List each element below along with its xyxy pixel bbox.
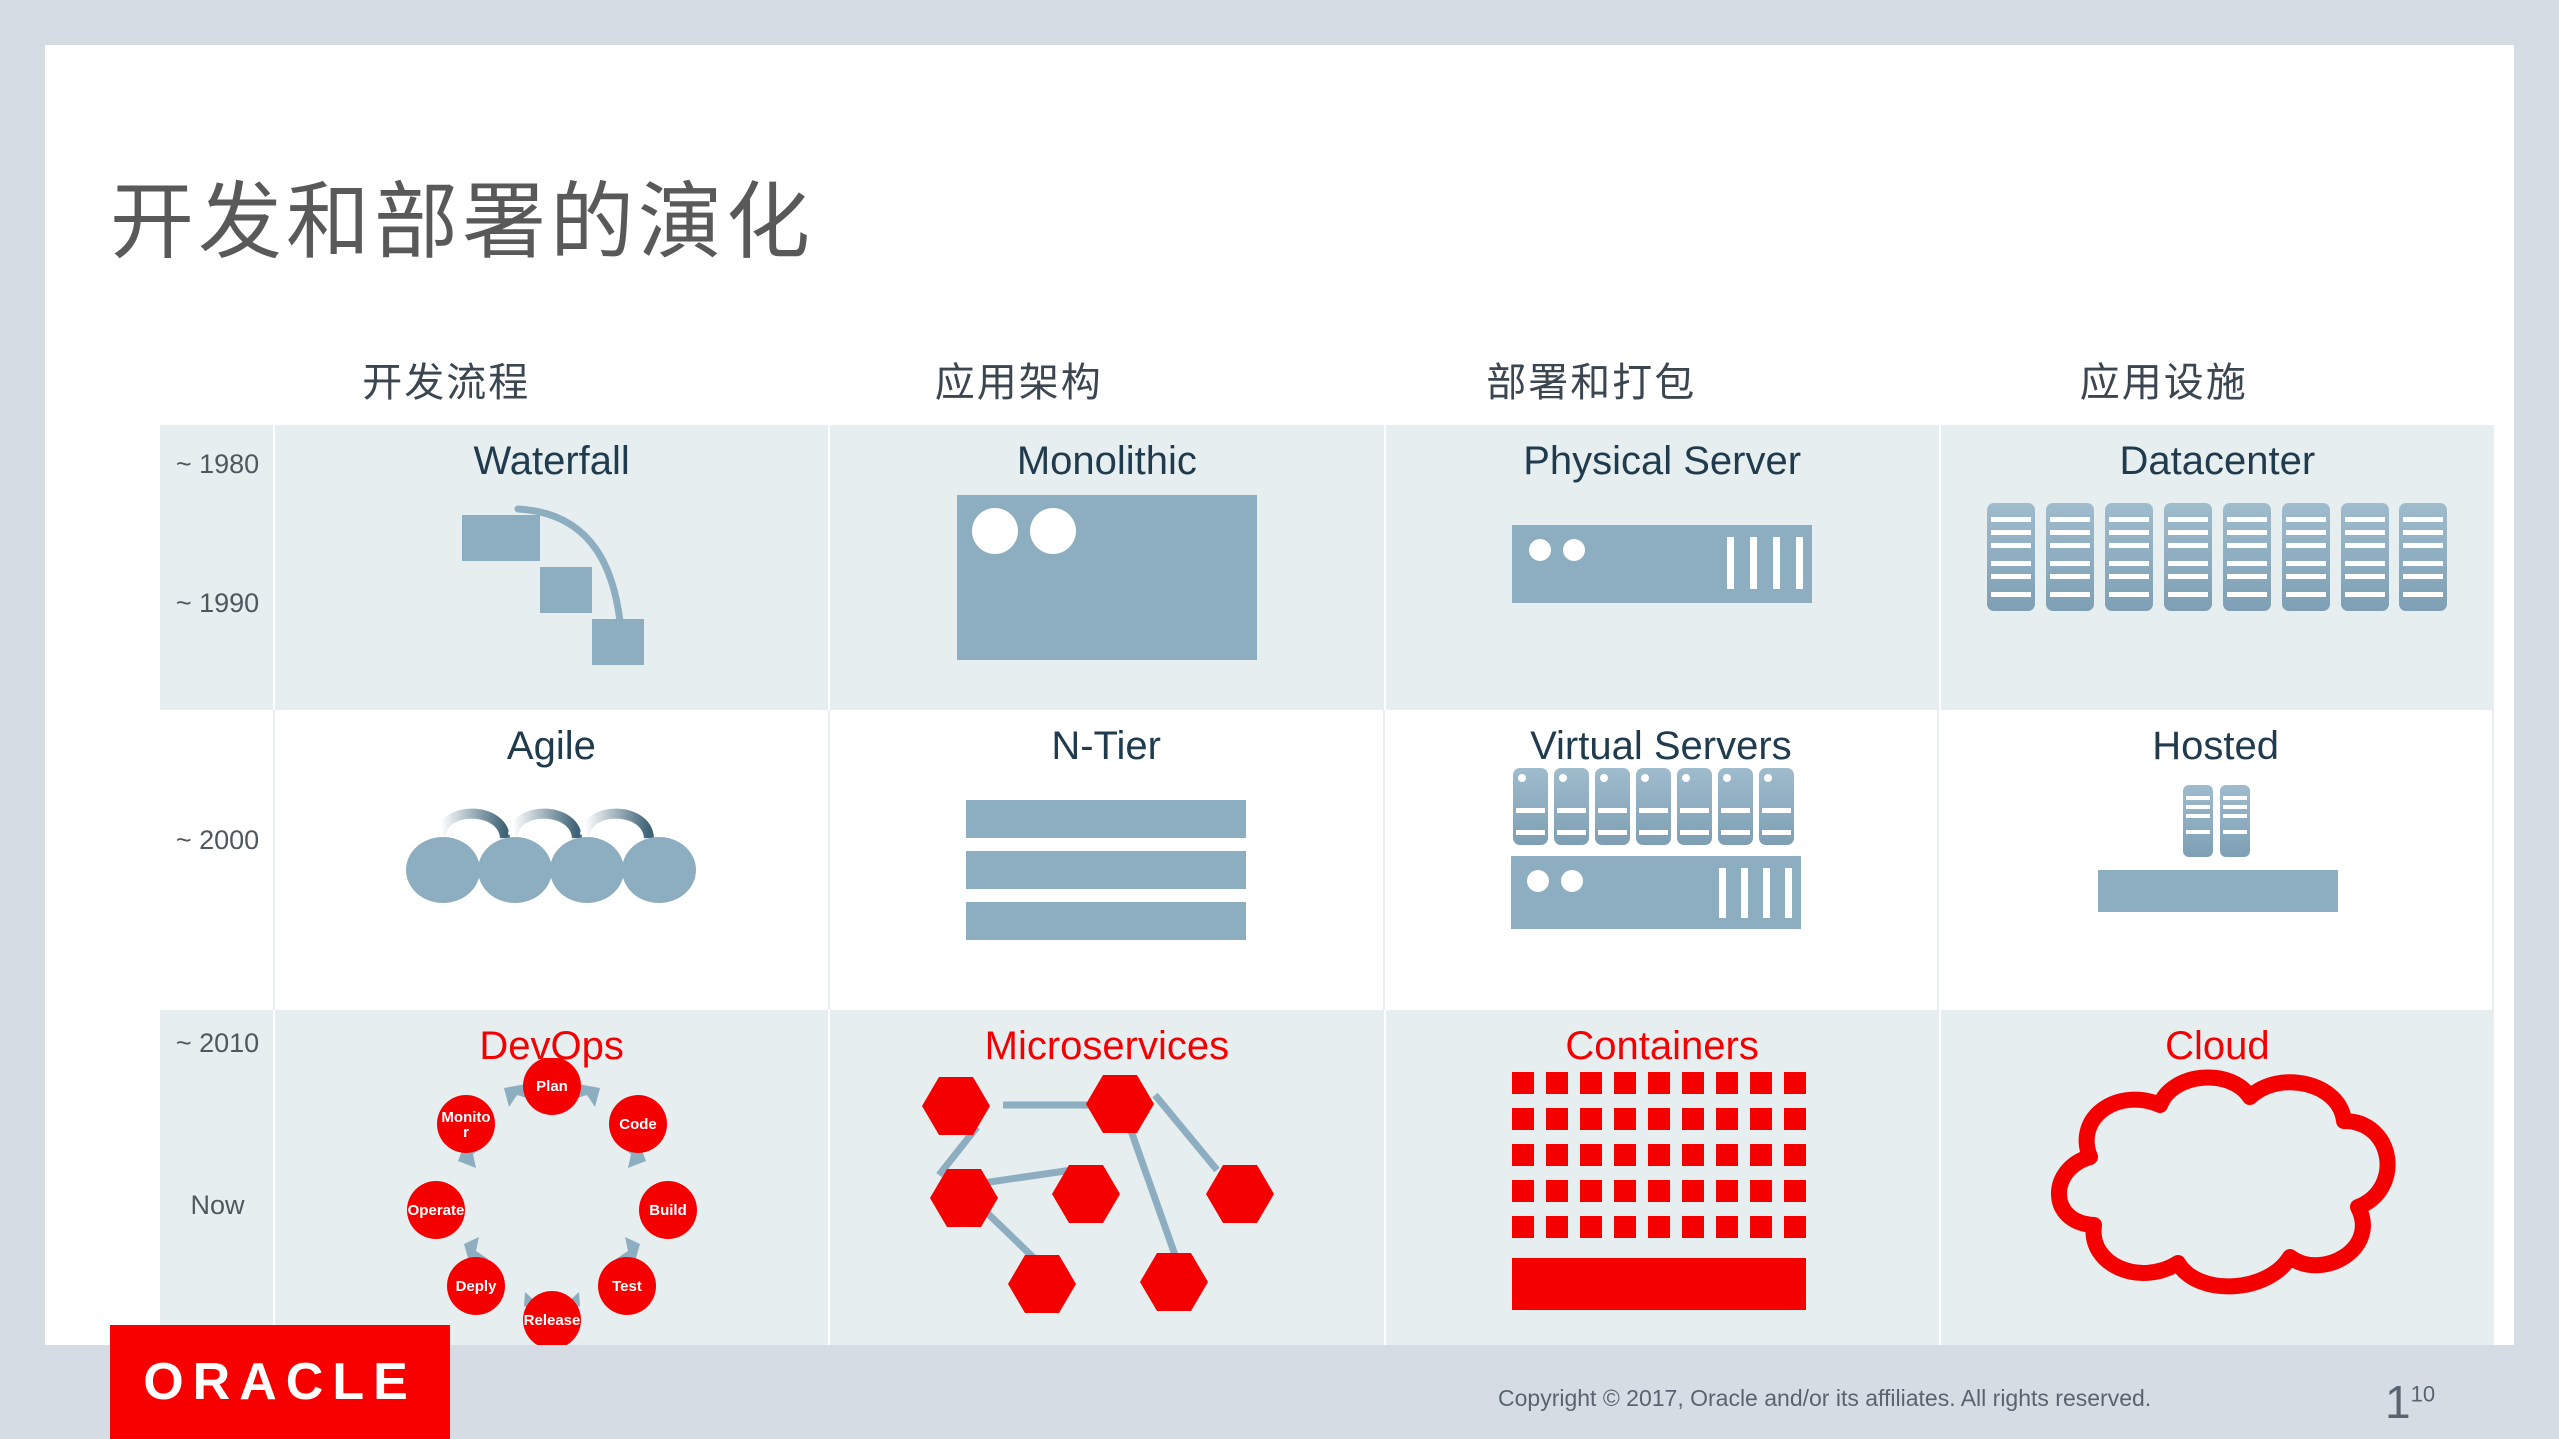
cell-virtual-servers: Virtual Servers	[1385, 710, 1940, 1010]
svg-text:r: r	[463, 1124, 469, 1141]
page-number-superscript: 10	[2411, 1382, 2435, 1407]
cell-label-physical-server: Physical Server	[1386, 439, 1939, 484]
table-row-era-2010s: ~ 2010 Now DevOps	[160, 1010, 2494, 1370]
column-header-deploy-package: 部署和打包	[1305, 350, 1878, 410]
cell-label-virtual-servers: Virtual Servers	[1385, 724, 1938, 769]
svg-text:Release: Release	[523, 1312, 580, 1329]
cell-hosted: Hosted	[1939, 710, 2494, 1010]
svg-text:Operate: Operate	[407, 1202, 464, 1219]
cell-label-monolithic: Monolithic	[830, 439, 1383, 484]
datacenter-racks-icon	[1941, 503, 2494, 710]
cell-n-tier: N-Tier	[830, 710, 1385, 1010]
n-tier-layers-icon	[830, 800, 1383, 1010]
page-number: 110	[2385, 1375, 2435, 1429]
svg-text:Build: Build	[649, 1202, 687, 1219]
waterfall-staircase-icon	[275, 495, 828, 710]
cell-label-waterfall: Waterfall	[275, 439, 828, 484]
cell-waterfall: Waterfall	[275, 425, 830, 710]
cell-cloud: Cloud	[1941, 1010, 2494, 1370]
cell-label-hosted: Hosted	[1939, 724, 2492, 769]
devops-cycle-icon: Plan Code Build Test Release Deply Opera…	[275, 1058, 828, 1370]
cell-physical-server: Physical Server	[1386, 425, 1941, 710]
era-label-1990: ~ 1990	[160, 588, 275, 619]
oracle-logo: ORACLE	[110, 1325, 450, 1439]
column-header-app-architecture: 应用架构	[733, 350, 1306, 410]
cell-label-n-tier: N-Tier	[830, 724, 1383, 769]
cell-agile: Agile	[275, 710, 830, 1010]
cell-monolithic: Monolithic	[830, 425, 1385, 710]
table-row-era-1980s: ~ 1980 ~ 1990 Waterfall Monolithic	[160, 425, 2494, 710]
hosted-racks-icon	[1939, 775, 2492, 1010]
physical-server-icon	[1386, 525, 1939, 710]
era-label-1980: ~ 1980	[160, 449, 275, 480]
page-number-value: 1	[2385, 1376, 2411, 1428]
virtual-servers-icon	[1385, 768, 1938, 1010]
era-label-2010: ~ 2010	[160, 1028, 275, 1059]
monolithic-block-icon	[830, 495, 1383, 710]
containers-grid-icon	[1386, 1072, 1939, 1370]
agile-circles-icon	[275, 800, 828, 1010]
era-column-2000s: ~ 2000	[160, 710, 275, 1010]
microservices-hex-icon	[830, 1065, 1383, 1370]
cell-label-containers: Containers	[1386, 1024, 1939, 1069]
column-header-row: 开发流程 应用架构 部署和打包 应用设施	[160, 350, 2450, 410]
cell-label-agile: Agile	[275, 724, 828, 769]
cell-label-cloud: Cloud	[1941, 1024, 2494, 1069]
oracle-wordmark: ORACLE	[143, 1352, 417, 1412]
svg-text:Deply: Deply	[455, 1278, 497, 1295]
table-row-era-2000s: ~ 2000 Agile	[160, 710, 2494, 1010]
svg-text:Plan: Plan	[536, 1078, 568, 1095]
page-title: 开发和部署的演化	[110, 155, 814, 276]
cell-containers: Containers	[1386, 1010, 1941, 1370]
column-header-dev-process: 开发流程	[160, 350, 733, 410]
era-label-2000: ~ 2000	[160, 825, 275, 856]
column-header-infrastructure: 应用设施	[1878, 350, 2451, 410]
cell-microservices: Microservices	[830, 1010, 1385, 1370]
cell-label-microservices: Microservices	[830, 1024, 1383, 1069]
slide-canvas: 开发和部署的演化 开发流程 应用架构 部署和打包 应用设施 ~ 1980 ~ 1…	[45, 45, 2514, 1345]
copyright-notice: Copyright © 2017, Oracle and/or its affi…	[1498, 1385, 2151, 1412]
evolution-table: ~ 1980 ~ 1990 Waterfall Monolithic	[160, 425, 2494, 1350]
cell-label-datacenter: Datacenter	[1941, 439, 2494, 484]
cell-devops: DevOps	[275, 1010, 830, 1370]
svg-text:Code: Code	[619, 1116, 657, 1133]
era-label-now: Now	[160, 1190, 275, 1221]
cell-datacenter: Datacenter	[1941, 425, 2494, 710]
era-column-1980s: ~ 1980 ~ 1990	[160, 425, 275, 710]
era-column-2010s: ~ 2010 Now	[160, 1010, 275, 1370]
svg-text:Test: Test	[612, 1278, 642, 1295]
cloud-outline-icon	[1941, 1065, 2494, 1370]
